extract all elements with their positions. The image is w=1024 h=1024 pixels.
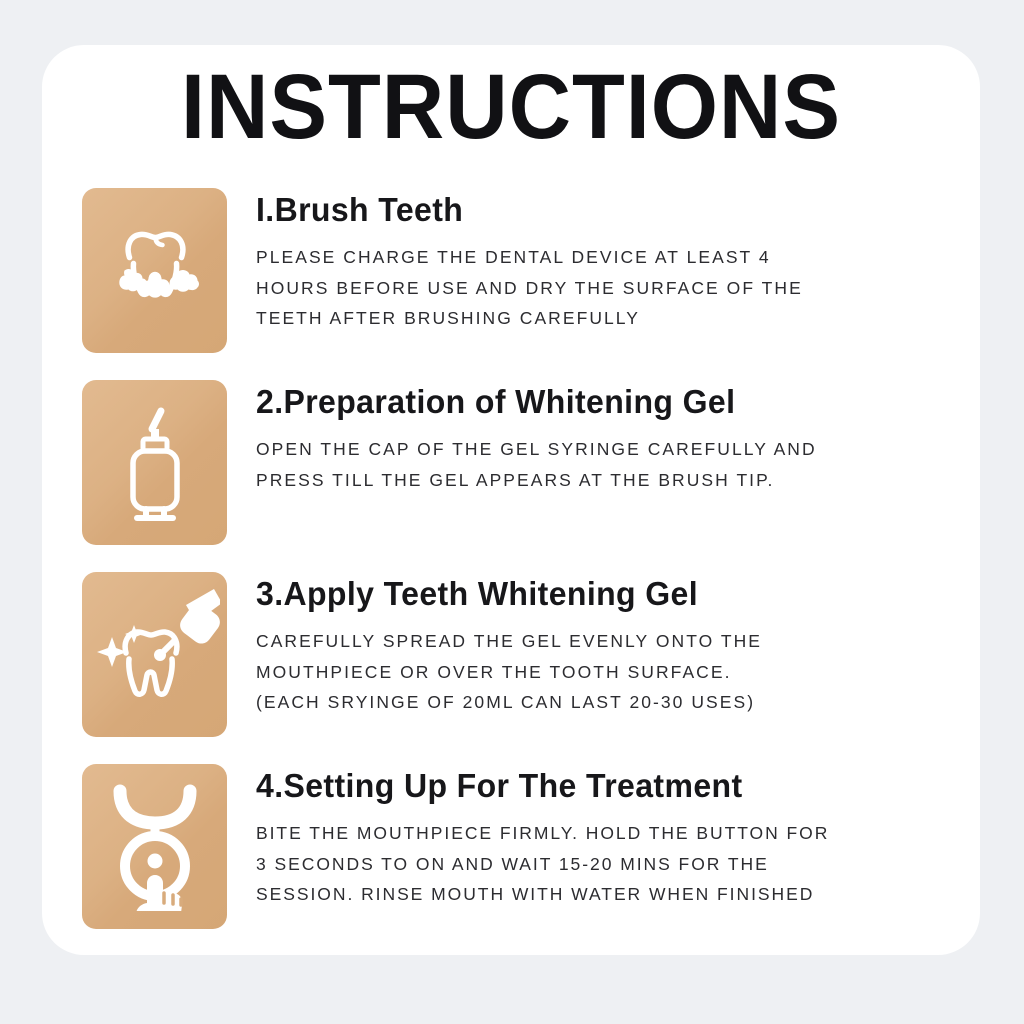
page-title: INSTRUCTIONS [70,45,952,159]
step-3-icon-tile [82,572,227,737]
step-item: 3.Apply Teeth Whitening Gel CAREFULLY SP… [82,572,958,737]
step-4-heading: 4.Setting Up For The Treatment [256,766,937,806]
step-2-icon-tile [82,380,227,545]
step-1-icon-tile [82,188,227,353]
step-4-content: 4.Setting Up For The Treatment BITE THE … [227,764,958,910]
tooth-with-foam-icon [102,223,207,318]
mouthpiece-button-press-icon [102,783,208,911]
step-item: 4.Setting Up For The Treatment BITE THE … [82,764,958,929]
step-1-text: PLEASE CHARGE THE DENTAL DEVICE AT LEAST… [256,230,958,334]
step-3-content: 3.Apply Teeth Whitening Gel CAREFULLY SP… [227,572,958,718]
steps-list: I.Brush Teeth PLEASE CHARGE THE DENTAL D… [82,188,958,956]
step-2-text: OPEN THE CAP OF THE GEL SYRINGE CAREFULL… [256,422,958,495]
step-1-heading: I.Brush Teeth [256,190,937,230]
step-4-text: BITE THE MOUTHPIECE FIRMLY. HOLD THE BUT… [256,806,958,910]
step-3-heading: 3.Apply Teeth Whitening Gel [256,574,937,614]
step-1-content: I.Brush Teeth PLEASE CHARGE THE DENTAL D… [227,188,958,334]
gel-syringe-icon [113,405,197,521]
step-2-content: 2.Preparation of Whitening Gel OPEN THE … [227,380,958,495]
instructions-page: INSTRUCTIONS I.Brush Teeth PLEASE CHARG [0,0,1024,1024]
instructions-card: INSTRUCTIONS I.Brush Teeth PLEASE CHARG [42,45,980,955]
step-2-heading: 2.Preparation of Whitening Gel [256,382,937,422]
step-item: 2.Preparation of Whitening Gel OPEN THE … [82,380,958,545]
step-3-text: CAREFULLY SPREAD THE GEL EVENLY ONTO THE… [256,614,958,718]
step-4-icon-tile [82,764,227,929]
step-item: I.Brush Teeth PLEASE CHARGE THE DENTAL D… [82,188,958,353]
tooth-with-gel-applicator-icon [90,585,220,725]
